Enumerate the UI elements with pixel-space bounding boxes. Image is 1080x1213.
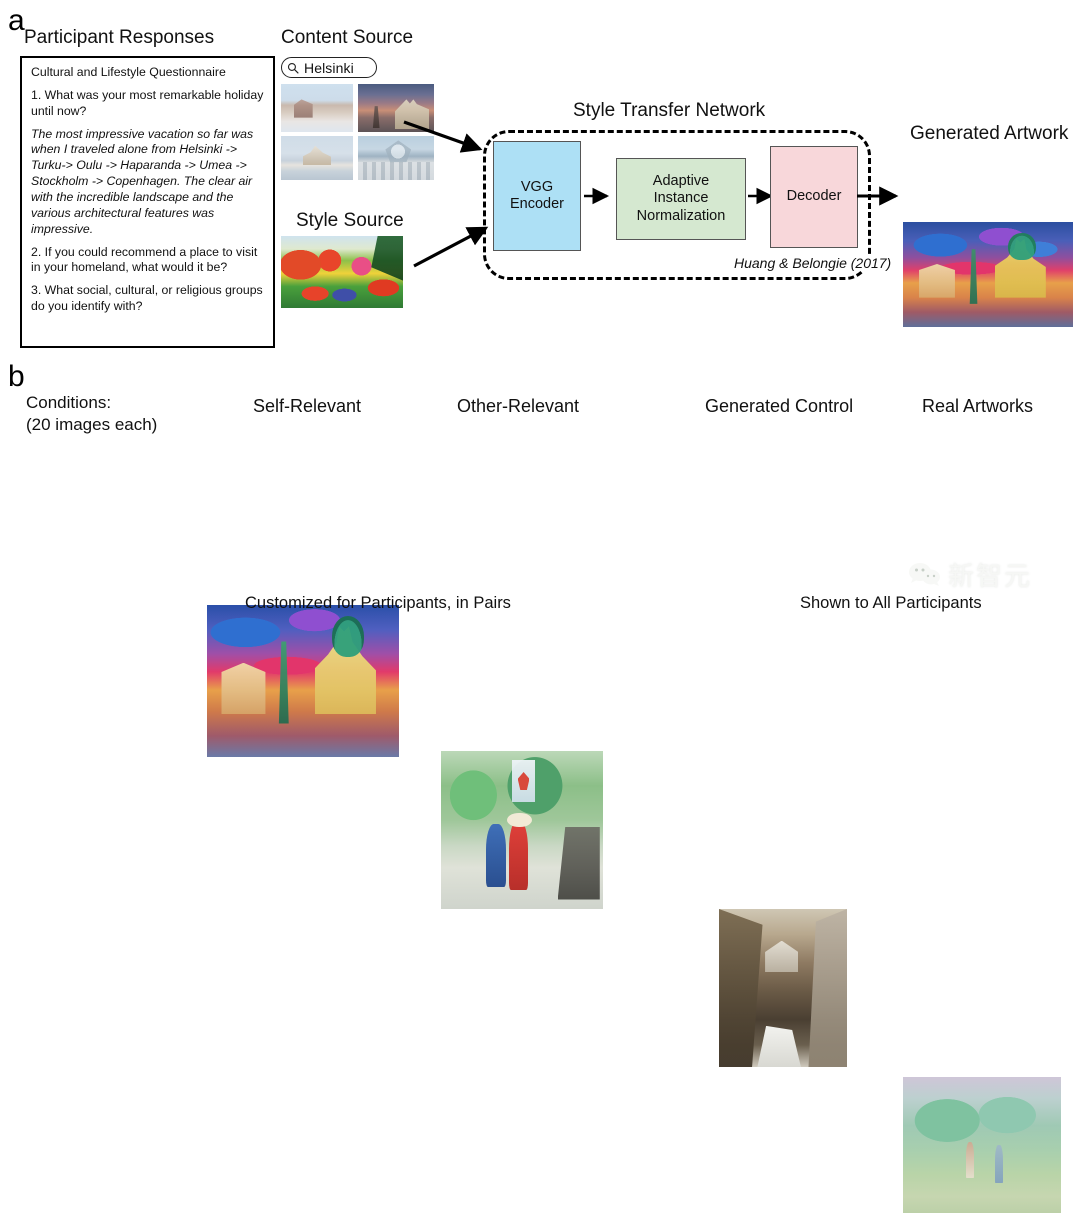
answer-1: The most impressive vacation so far was … bbox=[31, 127, 264, 238]
network-citation: Huang & Belongie (2017) bbox=[732, 255, 893, 271]
question-1: 1. What was your most remarkable holiday… bbox=[31, 88, 264, 120]
question-2: 2. If you could recommend a place to vis… bbox=[31, 245, 264, 277]
panel-a-letter: a bbox=[8, 6, 25, 36]
search-input[interactable]: Helsinki bbox=[281, 57, 377, 78]
adaptive-instance-normalization-block: Adaptive Instance Normalization bbox=[616, 158, 746, 240]
content-source-title: Content Source bbox=[281, 27, 413, 49]
content-thumb-helsinki-aerial-snow[interactable] bbox=[281, 84, 353, 132]
adain-line2: Instance bbox=[654, 190, 709, 207]
generated-artwork-title: Generated Artwork bbox=[910, 123, 1068, 145]
decoder-block: Decoder bbox=[770, 146, 858, 248]
question-3: 3. What social, cultural, or religious g… bbox=[31, 283, 264, 315]
column-title-self-relevant: Self-Relevant bbox=[253, 396, 361, 417]
conditions-sublabel: (20 images each) bbox=[26, 414, 157, 437]
caption-shown-all: Shown to All Participants bbox=[800, 594, 982, 613]
other-relevant-image[interactable] bbox=[441, 751, 603, 909]
adain-line3: Normalization bbox=[637, 208, 726, 225]
content-thumb-helsinki-waterfront[interactable] bbox=[281, 136, 353, 180]
search-query-text: Helsinki bbox=[304, 60, 354, 76]
vgg-encoder-line2: Encoder bbox=[510, 196, 564, 213]
questionnaire-box: Cultural and Lifestyle Questionnaire 1. … bbox=[20, 56, 275, 348]
watermark-text: 新智元 bbox=[948, 556, 1032, 593]
questionnaire-title: Cultural and Lifestyle Questionnaire bbox=[31, 65, 264, 81]
search-icon bbox=[287, 62, 299, 74]
participant-responses-title: Participant Responses bbox=[24, 27, 214, 49]
vgg-encoder-block: VGG Encoder bbox=[493, 141, 581, 251]
generated-artwork-image[interactable] bbox=[903, 222, 1073, 327]
panel-b-letter: b bbox=[8, 362, 25, 392]
style-source-title: Style Source bbox=[296, 210, 404, 232]
wechat-icon bbox=[908, 561, 942, 589]
self-relevant-image[interactable] bbox=[207, 605, 399, 757]
real-artworks-image[interactable] bbox=[903, 1077, 1061, 1213]
watermark: 新智元 bbox=[908, 556, 1032, 593]
column-title-real-artworks: Real Artworks bbox=[922, 396, 1033, 417]
column-title-other-relevant: Other-Relevant bbox=[457, 396, 579, 417]
conditions-label: Conditions: bbox=[26, 392, 111, 415]
column-title-generated-control: Generated Control bbox=[705, 396, 853, 417]
adain-line1: Adaptive bbox=[653, 173, 709, 190]
style-source-thumbnail[interactable] bbox=[281, 236, 403, 308]
decoder-label: Decoder bbox=[787, 188, 842, 205]
arrow-decoder-to-artwork bbox=[856, 186, 904, 206]
style-transfer-network-title: Style Transfer Network bbox=[573, 100, 765, 122]
caption-customized: Customized for Participants, in Pairs bbox=[245, 594, 511, 613]
generated-control-image[interactable] bbox=[719, 909, 847, 1067]
vgg-encoder-line1: VGG bbox=[521, 179, 553, 196]
arrow-encoder-to-adain bbox=[583, 186, 615, 206]
